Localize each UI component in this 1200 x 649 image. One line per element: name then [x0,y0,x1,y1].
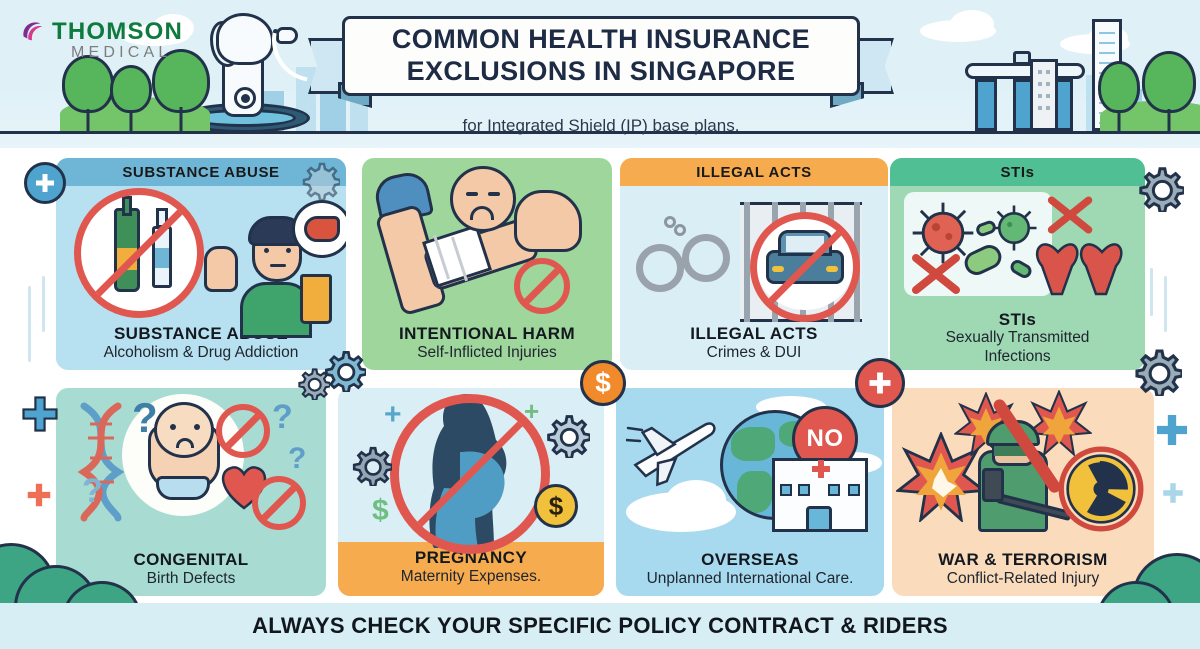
no-symbol-icon [514,258,570,314]
question-mark-icon: ? [288,442,306,476]
card-overseas[interactable]: NO OVERSEAS Unplanned International Care… [616,388,884,596]
card-art-congenital: ? ? ? ? [56,388,326,548]
card-caption-intentional-harm: INTENTIONAL HARM Self-Inflicted Injuries [362,322,612,370]
card-art-substance-abuse [56,186,346,322]
person-eye [286,248,291,253]
footer-text: ALWAYS CHECK YOUR SPECIFIC POLICY CONTRA… [252,613,948,639]
brand-name-top: THOMSON [52,18,183,46]
card-subtitle: Alcoholism & Drug Addiction [62,344,340,362]
dollar-badge-text: $ [595,367,611,399]
footer-bar: ALWAYS CHECK YOUR SPECIFIC POLICY CONTRA… [0,603,1200,649]
header-banner: THOMSON MEDICAL COMMON HEALTH INSURANCE … [0,0,1200,148]
question-mark-icon: ? [272,398,293,437]
airplane-icon [626,406,726,490]
liver-icon [304,216,340,242]
baby-head [154,402,214,458]
hospital-window [828,484,840,496]
no-sign-text: NO [807,425,844,453]
plus-icon [1160,480,1186,506]
card-stis[interactable]: STIs [890,158,1145,370]
card-subtitle: Conflict-Related Injury [898,570,1148,588]
plus-icon: + [384,398,402,432]
card-art-stis [890,186,1145,308]
cross-out-icon [1046,194,1096,236]
question-mark-icon: ? [82,472,103,511]
card-art-intentional-harm [362,158,612,322]
tree-icon [1096,61,1142,131]
card-title: WAR & TERRORISM [898,550,1148,570]
person-eye [264,248,269,253]
card-title: STIs [896,310,1139,330]
card-intentional-harm[interactable]: INTENTIONAL HARM Self-Inflicted Injuries [362,158,612,370]
card-art-illegal-acts [620,186,888,322]
office-building-icon [1030,59,1058,131]
card-subtitle: Crimes & DUI [626,344,882,362]
handcuffs-icon [682,234,730,282]
red-cross-badge-icon [855,358,905,408]
card-art-war-terrorism [892,388,1154,548]
title-ribbon: COMMON HEALTH INSURANCE EXCLUSIONS IN SI… [342,16,860,109]
gear-icon [1132,346,1182,396]
baby-eye [170,424,176,430]
tree-icon [108,65,154,131]
face-eye [466,192,478,196]
title-plate: COMMON HEALTH INSURANCE EXCLUSIONS IN SI… [342,16,860,96]
card-caption-overseas: OVERSEAS Unplanned International Care. [616,548,884,596]
cards-grid: SUBSTANCE ABUSE [0,148,1200,603]
hospital-cross-icon [818,460,824,478]
radiation-icon [1058,446,1144,532]
accent-line [1150,268,1153,316]
infographic-page: THOMSON MEDICAL COMMON HEALTH INSURANCE … [0,0,1200,649]
no-symbol-icon [74,188,204,318]
person-mouth [270,264,286,267]
accent-line [42,276,45,332]
plus-icon [18,392,62,436]
brand-name-bottom: MEDICAL [71,44,172,62]
thomson-swirl-icon [18,16,48,46]
cloud-icon [950,10,994,38]
tree-icon [1140,49,1198,131]
gear-icon [350,444,392,486]
gear-icon [322,348,366,392]
gear-icon [1136,164,1184,212]
handcuffs-icon [636,244,684,292]
baby-diaper [156,476,210,500]
card-art-pregnancy: $ $ + + [338,388,604,542]
card-band-illegal-acts: ILLEGAL ACTS [620,158,888,186]
page-title-line2: EXCLUSIONS IN SINGAPORE [407,56,796,88]
card-art-overseas: NO [616,388,884,548]
no-symbol-icon [750,212,860,322]
handcuff-chain [674,224,686,236]
face-eye [488,192,500,196]
brand-logo[interactable]: THOMSON MEDICAL [18,14,188,68]
page-subtitle: for Integrated Shield (IP) base plans. [342,116,860,136]
card-illegal-acts[interactable]: ILLEGAL ACTS [620,158,888,370]
page-title-line1: COMMON HEALTH INSURANCE [392,24,810,56]
hospital-window [848,484,860,496]
dollar-sign-icon: $ [372,494,389,528]
dollar-coin-icon: $ [534,484,578,528]
plus-icon [1152,410,1192,450]
medical-cross-badge-icon [24,162,66,204]
accent-line [1164,276,1167,332]
raised-hand-icon [204,246,238,292]
card-subtitle: Sexually Transmitted Infections [913,329,1123,366]
gear-icon [300,160,340,200]
card-caption-illegal-acts: ILLEGAL ACTS Crimes & DUI [620,322,888,370]
card-subtitle: Unplanned International Care. [622,570,878,588]
cross-out-icon [910,252,964,296]
card-subtitle: Self-Inflicted Injuries [368,344,606,362]
no-symbol-icon [216,404,270,458]
plus-icon [24,480,54,510]
dollar-badge-icon: $ [580,360,626,406]
gear-icon [544,412,590,458]
marina-bay-sands-icon [965,39,1085,131]
card-pregnancy[interactable]: $ $ + + PREGNANCY Maternity Expenses. [338,388,604,596]
card-caption-stis: STIs Sexually Transmitted Infections [890,308,1145,370]
card-war-terrorism[interactable]: WAR & TERRORISM Conflict-Related Injury [892,388,1154,596]
hospital-window [780,484,792,496]
red-ribbon-icon [1076,232,1128,298]
hospital-window [798,484,810,496]
card-title: CONGENITAL [62,550,320,570]
sad-face-icon [450,166,516,232]
jail-bar [744,202,750,322]
accent-line [28,286,31,362]
card-title: ILLEGAL ACTS [626,324,882,344]
card-congenital[interactable]: ? ? ? ? CONGENITAL Birth Defects [56,388,326,596]
hospital-door [806,506,832,532]
card-subtitle: Maternity Expenses. [344,568,598,586]
hand-icon [514,190,582,252]
card-title: INTENTIONAL HARM [368,324,606,344]
rifle-stock [982,468,1004,502]
plus-icon: + [524,396,539,427]
baby-eye [194,424,200,430]
question-mark-icon: ? [132,394,158,442]
no-symbol-icon [252,476,306,530]
card-band-stis: STIs [890,158,1145,186]
card-title: OVERSEAS [622,550,878,570]
beer-glass-icon [300,274,332,324]
